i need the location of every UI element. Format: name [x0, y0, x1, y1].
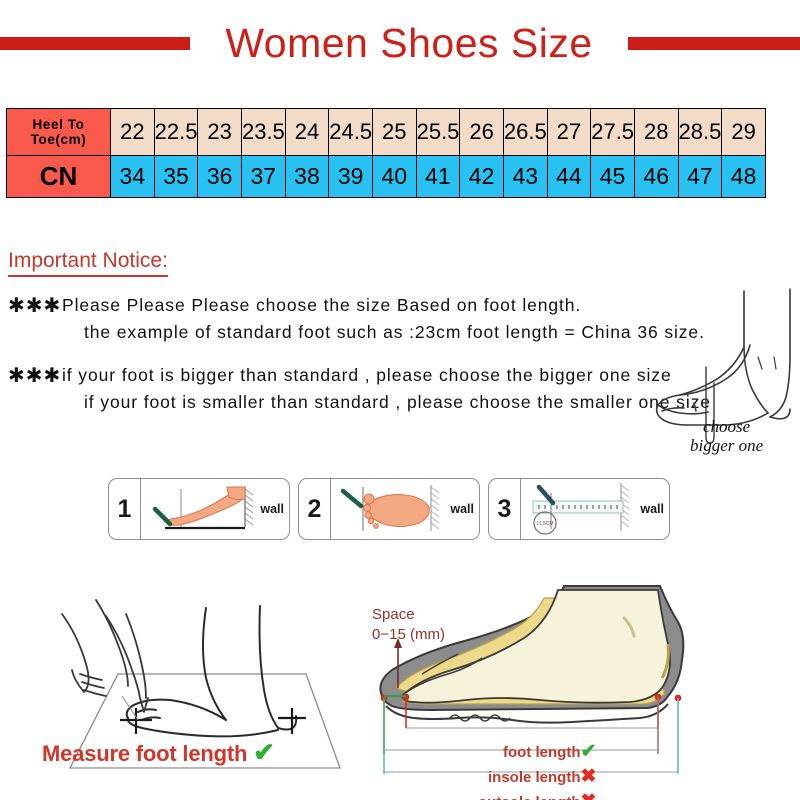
step-number: 3 — [489, 479, 521, 539]
cell-cm: 25.5 — [416, 109, 460, 156]
row-header-cn: CN — [7, 156, 111, 198]
legend-row-outsole-length: outsole length✖ — [478, 789, 596, 800]
step-box-3: 3 — [488, 478, 670, 540]
legend-label: outsole length — [478, 794, 581, 800]
cell-cn: 34 — [111, 156, 155, 198]
choose-bigger-one-caption: choose bigger one — [690, 418, 763, 455]
cell-cn: 40 — [372, 156, 416, 198]
cell-cm: 28 — [634, 109, 678, 156]
page-title: Women Shoes Size — [190, 20, 628, 67]
check-icon: ✔ — [581, 741, 597, 762]
cell-cn: 38 — [285, 156, 329, 198]
cell-cm: 24.5 — [329, 109, 373, 156]
notice-line: if your foot is bigger than standard , p… — [62, 362, 711, 389]
wall-label: wall — [260, 502, 284, 516]
space-label-line2: 0−15 (mm) — [372, 625, 445, 645]
cell-cm: 23.5 — [241, 109, 285, 156]
measurement-steps: 1 — [108, 478, 670, 540]
space-callout: Space 0−15 (mm) — [372, 605, 445, 646]
page-title-row: Women Shoes Size — [0, 16, 800, 70]
cell-cn: 47 — [678, 156, 722, 198]
cell-cn: 43 — [503, 156, 547, 198]
asterisk-icon: ✱✱✱ — [8, 292, 62, 320]
table-row-heel-to-toe: Heel To Toe(cm) 22 22.5 23 23.5 24 24.5 … — [7, 109, 766, 156]
choose-caption-line2: bigger one — [690, 437, 763, 456]
cell-cn: 36 — [198, 156, 242, 198]
step-box-2: 2 — [298, 478, 480, 540]
cell-cm: 25 — [372, 109, 416, 156]
cell-cm: 24 — [285, 109, 329, 156]
shoe-size-table: Heel To Toe(cm) 22 22.5 23 23.5 24 24.5 … — [6, 108, 766, 198]
notice-lines: Please Please Please choose the size Bas… — [62, 292, 705, 346]
check-icon: ✔ — [253, 737, 275, 767]
notice-block: ✱✱✱ Please Please Please choose the size… — [8, 292, 698, 433]
cell-cm: 27.5 — [591, 109, 635, 156]
cell-cn: 41 — [416, 156, 460, 198]
space-label-line1: Space — [372, 605, 445, 625]
cell-cm: 22.5 — [154, 109, 198, 156]
choose-caption-line1: choose — [690, 418, 763, 437]
legend-row-insole-length: insole length✖ — [478, 764, 596, 789]
cell-cn: 45 — [591, 156, 635, 198]
measure-foot-length-label: Measure foot length ✔ — [42, 737, 275, 768]
cross-icon: ✖ — [581, 766, 597, 787]
cell-cm: 28.5 — [678, 109, 722, 156]
step-box-1: 1 — [108, 478, 290, 540]
wall-label: wall — [450, 502, 474, 516]
important-notice-heading: Important Notice: — [8, 249, 168, 277]
step-illustration-foot-side: wall — [141, 479, 289, 539]
cell-cm: 26.5 — [503, 109, 547, 156]
cell-cn: 35 — [154, 156, 198, 198]
cell-cm: 23 — [198, 109, 242, 156]
step-number: 1 — [109, 479, 141, 539]
step-illustration-foot-sole: wall — [331, 479, 479, 539]
cell-cn: 42 — [460, 156, 504, 198]
table-row-cn: CN 34 35 36 37 38 39 40 41 42 43 44 45 4… — [7, 156, 766, 198]
row-header-heel-to-toe: Heel To Toe(cm) — [7, 109, 111, 156]
step-number: 2 — [299, 479, 331, 539]
cell-cm: 22 — [111, 109, 155, 156]
asterisk-icon: ✱✱✱ — [8, 362, 62, 390]
title-rule-right — [628, 37, 800, 50]
cell-cn: 48 — [722, 156, 766, 198]
legend-row-foot-length: foot length✔ — [478, 739, 596, 764]
notice-line: the example of standard foot such as :23… — [62, 319, 705, 346]
title-rule-left — [0, 37, 190, 50]
notice-item: ✱✱✱ Please Please Please choose the size… — [8, 292, 698, 346]
step-illustration-ruler: 11.5CM wall — [521, 479, 669, 539]
cross-icon: ✖ — [581, 791, 597, 800]
wall-label: wall — [640, 502, 664, 516]
legend-label: insole length — [488, 769, 581, 786]
shoe-measurement-legend: foot length✔ insole length✖ outsole leng… — [478, 739, 596, 800]
size-chart-page: Women Shoes Size Heel To Toe(cm) 22 22.5… — [0, 0, 800, 800]
magnifier-text: 11.5CM — [536, 521, 553, 527]
cell-cm: 27 — [547, 109, 591, 156]
notice-line: if your foot is smaller than standard , … — [62, 389, 711, 416]
measure-label-text: Measure foot length — [42, 741, 247, 766]
legend-label: foot length — [503, 744, 580, 761]
cell-cn: 44 — [547, 156, 591, 198]
cell-cn: 39 — [329, 156, 373, 198]
notice-line: Please Please Please choose the size Bas… — [62, 292, 705, 319]
cell-cm: 26 — [460, 109, 504, 156]
notice-item: ✱✱✱ if your foot is bigger than standard… — [8, 362, 698, 416]
notice-lines: if your foot is bigger than standard , p… — [62, 362, 711, 416]
cell-cn: 46 — [634, 156, 678, 198]
cell-cn: 37 — [241, 156, 285, 198]
cell-cm: 29 — [722, 109, 766, 156]
